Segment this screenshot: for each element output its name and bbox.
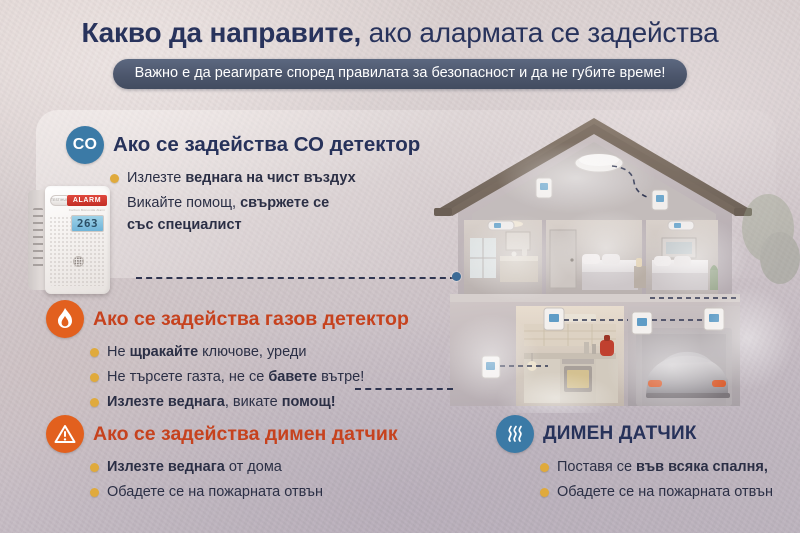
list-item: Не щракайте ключове, уреди <box>90 342 409 363</box>
smoke-right-section-header: ДИМЕН ДАТЧИК <box>496 415 773 453</box>
list-item: Излезте веднага от дома <box>90 457 398 478</box>
bullet-dot-icon <box>110 174 119 183</box>
co-circle-icon: CO <box>66 126 104 164</box>
list-item: Обадете се на пожарната отвън <box>540 482 773 503</box>
smoke-right-bullet-2: Обадете се на пожарната отвън <box>557 482 773 503</box>
bullet-dot-icon <box>540 463 549 472</box>
co-bullet-1: Излезте веднага на чист въздух <box>127 168 356 189</box>
co-detector-device: TEST/HUSH ALARM Carbon Monoxide Alarm 26… <box>28 186 110 294</box>
bullet-dot-icon <box>90 463 99 472</box>
section-co-detector: CO Ако се задейства СО детектор Излезте … <box>66 126 420 236</box>
infographic-poster: Какво да направите, ако алармата се заде… <box>0 0 800 533</box>
gas-bullet-3: Излезте веднага, викате помощ! <box>107 392 336 413</box>
smoke-waves-circle-icon <box>496 415 534 453</box>
bullet-dot-icon <box>540 488 549 497</box>
co-connector-endpoint <box>452 272 461 281</box>
list-item: Излезте веднага, викате помощ! <box>90 392 409 413</box>
section-smoke-detector-left: Ако се задейства димен датчик Излезте ве… <box>46 415 398 503</box>
list-item: Излезте веднага на чист въздух <box>110 168 420 189</box>
smoke-right-bullet-1: Поставя се във всяка спалня, <box>557 457 768 478</box>
page-title-strong: Какво да направите, <box>81 17 361 48</box>
co-bullet-2-continuation: със специалист <box>110 215 420 236</box>
house-cutaway-illustration <box>396 108 800 413</box>
smoke-left-bullet-list: Излезте веднага от дома Обадете се на по… <box>46 457 398 503</box>
device-face: TEST/HUSH ALARM Carbon Monoxide Alarm 26… <box>45 186 110 294</box>
co-section-header: CO Ако се задейства СО детектор <box>66 126 420 164</box>
smoke-right-section-title: ДИМЕН ДАТЧИК <box>543 423 697 445</box>
section-gas-detector: Ако се задейства газов детектор Не щрака… <box>46 300 409 413</box>
bullet-dot-icon <box>90 398 99 407</box>
co-section-title: Ако се задейства СО детектор <box>113 134 420 156</box>
co-bullet-list: Излезте веднага на чист въздух Викайте п… <box>66 168 420 236</box>
header: Какво да направите, ако алармата се заде… <box>0 0 800 89</box>
device-lcd-display: 263 <box>71 215 104 232</box>
co-dashed-line <box>136 277 456 279</box>
gas-bullet-2: Не търсете газта, не се бавете вътре! <box>107 367 364 388</box>
page-title: Какво да направите, ако алармата се заде… <box>0 16 800 50</box>
smoke-right-bullet-list: Поставя се във всяка спалня, Обадете се … <box>496 457 773 503</box>
list-item: Викайте помощ, свържете се <box>110 193 420 214</box>
list-item: Обадете се на пожарната отвън <box>90 482 398 503</box>
device-sounder-hole <box>73 256 84 267</box>
bullet-dot-icon <box>90 373 99 382</box>
page-title-light: ако алармата се задейства <box>361 17 718 48</box>
bullet-dot-icon <box>90 488 99 497</box>
bullet-dot-icon <box>90 348 99 357</box>
list-item: Поставя се във всяка спалня, <box>540 457 773 478</box>
smoke-left-section-header: Ако се задейства димен датчик <box>46 415 398 453</box>
smoke-left-section-title: Ако се задейства димен датчик <box>93 423 398 445</box>
subtitle-banner: Важно е да реагирате според правилата за… <box>113 59 688 89</box>
flame-circle-icon <box>46 300 84 338</box>
gas-bullet-list: Не щракайте ключове, уреди Не търсете га… <box>46 342 409 413</box>
gas-section-header: Ако се задейства газов детектор <box>46 300 409 338</box>
co-icon-label: CO <box>73 136 98 154</box>
co-bullet-2: Викайте помощ, свържете се <box>127 193 329 214</box>
device-brand-subtitle: Carbon Monoxide Alarm <box>67 208 107 213</box>
smoke-left-bullet-1: Излезте веднага от дома <box>107 457 282 478</box>
list-item: Не търсете газта, не се бавете вътре! <box>90 367 409 388</box>
device-vents <box>33 208 43 270</box>
gas-bullet-1: Не щракайте ключове, уреди <box>107 342 306 363</box>
section-smoke-detector-right: ДИМЕН ДАТЧИК Поставя се във всяка спалня… <box>496 415 773 503</box>
device-lcd-value: 263 <box>77 217 98 230</box>
gas-section-title: Ако се задейства газов детектор <box>93 308 409 330</box>
smoke-left-bullet-2: Обадете се на пожарната отвън <box>107 482 323 503</box>
device-alarm-bar: ALARM <box>67 195 107 206</box>
device-alarm-label: ALARM <box>73 197 101 204</box>
warning-triangle-circle-icon <box>46 415 84 453</box>
